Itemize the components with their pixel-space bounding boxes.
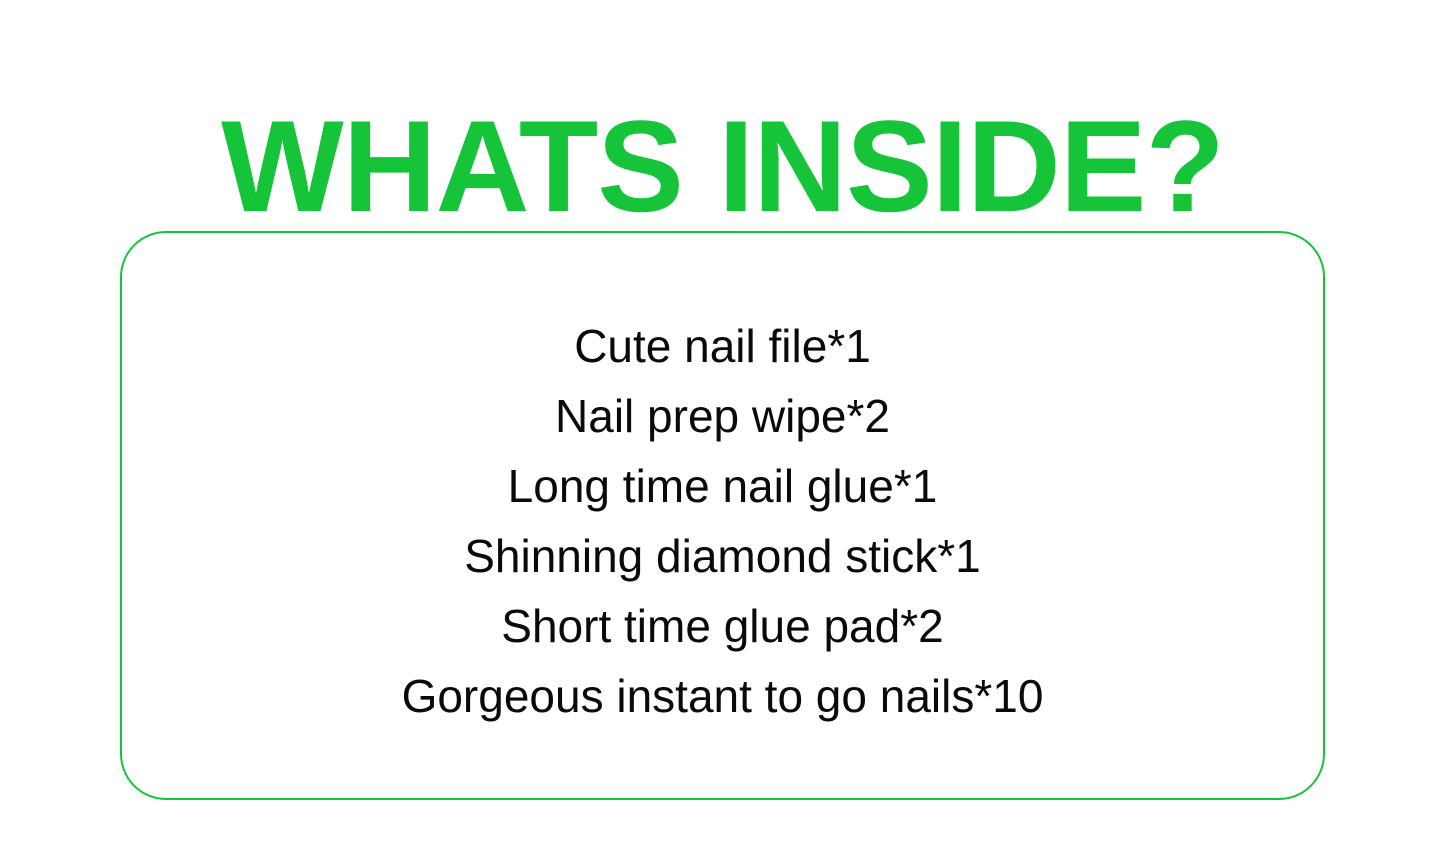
- list-item: Shinning diamond stick*1: [122, 521, 1323, 591]
- list-item: Nail prep wipe*2: [122, 381, 1323, 451]
- page-title: WHATS INSIDE?: [0, 101, 1445, 231]
- list-item: Gorgeous instant to go nails*10: [122, 661, 1323, 731]
- list-item: Short time glue pad*2: [122, 591, 1323, 661]
- contents-card: Cute nail file*1 Nail prep wipe*2 Long t…: [120, 231, 1325, 800]
- list-item: Cute nail file*1: [122, 311, 1323, 381]
- slide-canvas: WHATS INSIDE? Cute nail file*1 Nail prep…: [0, 0, 1445, 861]
- contents-list: Cute nail file*1 Nail prep wipe*2 Long t…: [122, 311, 1323, 731]
- list-item: Long time nail glue*1: [122, 451, 1323, 521]
